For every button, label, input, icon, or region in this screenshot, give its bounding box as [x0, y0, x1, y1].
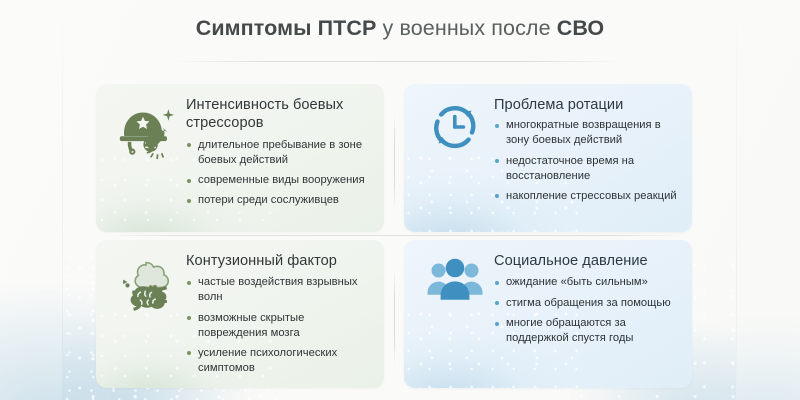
- list-item: многократные возвращения в зону боевых д…: [494, 118, 680, 148]
- list-item: длительное пребывание в зоне боевых дейс…: [186, 138, 372, 168]
- card-combat-stressors[interactable]: Интенсивность боевых стрессоров длительн…: [96, 84, 384, 232]
- card-bullet-list: многократные возвращения в зону боевых д…: [494, 118, 680, 203]
- card-heading: Проблема ротации: [494, 96, 680, 114]
- card-social-pressure[interactable]: Социальное давление ожидание «быть сильн…: [404, 240, 692, 388]
- title-underline-rule: [170, 61, 620, 62]
- divider-horizontal: [104, 235, 684, 236]
- list-item: стигма обращения за помощью: [494, 296, 680, 311]
- card-body: Контузионный фактор частые воздействия в…: [186, 250, 372, 376]
- list-item: недостаточное время на восстановление: [494, 154, 680, 184]
- list-item: накопление стрессовых реакций: [494, 189, 680, 204]
- cards-grid: Интенсивность боевых стрессоров длительн…: [96, 84, 692, 388]
- infographic-canvas: Симптомы ПТСР у военных после СВО: [0, 0, 800, 400]
- card-heading: Социальное давление: [494, 252, 680, 270]
- card-bullet-list: ожидание «быть сильным» стигма обращения…: [494, 275, 680, 346]
- page-title-part-1: Симптомы ПТСР: [196, 16, 377, 40]
- list-item: ожидание «быть сильным»: [494, 275, 680, 290]
- card-body: Социальное давление ожидание «быть сильн…: [494, 250, 680, 346]
- list-item: современные виды вооружения: [186, 173, 372, 188]
- card-rotation-problem[interactable]: Проблема ротации многократные возвращени…: [404, 84, 692, 232]
- title-area: Симптомы ПТСР у военных после СВО: [0, 16, 800, 42]
- card-heading: Интенсивность боевых стрессоров: [186, 96, 372, 133]
- divider-vertical-top: [394, 114, 395, 210]
- list-item: возможные скрытые повреждения мозга: [186, 311, 372, 341]
- brain-blast-icon: [108, 250, 186, 324]
- divider-vertical-bottom: [394, 270, 395, 366]
- left-edge-line: [62, 0, 63, 400]
- list-item: многие обращаются за поддержкой спустя г…: [494, 316, 680, 346]
- card-bullet-list: частые воздействия взрывных волн возможн…: [186, 275, 372, 375]
- clock-rotation-icon: [416, 94, 494, 168]
- card-body: Проблема ротации многократные возвращени…: [494, 94, 680, 204]
- people-group-icon: [416, 250, 494, 324]
- card-bullet-list: длительное пребывание в зоне боевых дейс…: [186, 138, 372, 209]
- card-heading: Контузионный фактор: [186, 252, 372, 270]
- list-item: потери среди сослуживцев: [186, 193, 372, 208]
- right-edge-line: [736, 0, 737, 400]
- helmet-grenade-icon: [108, 94, 186, 168]
- page-title-part-3: СВО: [557, 16, 605, 40]
- card-body: Интенсивность боевых стрессоров длительн…: [186, 94, 372, 208]
- list-item: частые воздействия взрывных волн: [186, 275, 372, 305]
- page-title: Симптомы ПТСР у военных после СВО: [0, 16, 800, 42]
- list-item: усиление психологических симптомов: [186, 346, 372, 376]
- page-title-part-2: у военных после: [376, 16, 556, 40]
- card-concussion-factor[interactable]: Контузионный фактор частые воздействия в…: [96, 240, 384, 388]
